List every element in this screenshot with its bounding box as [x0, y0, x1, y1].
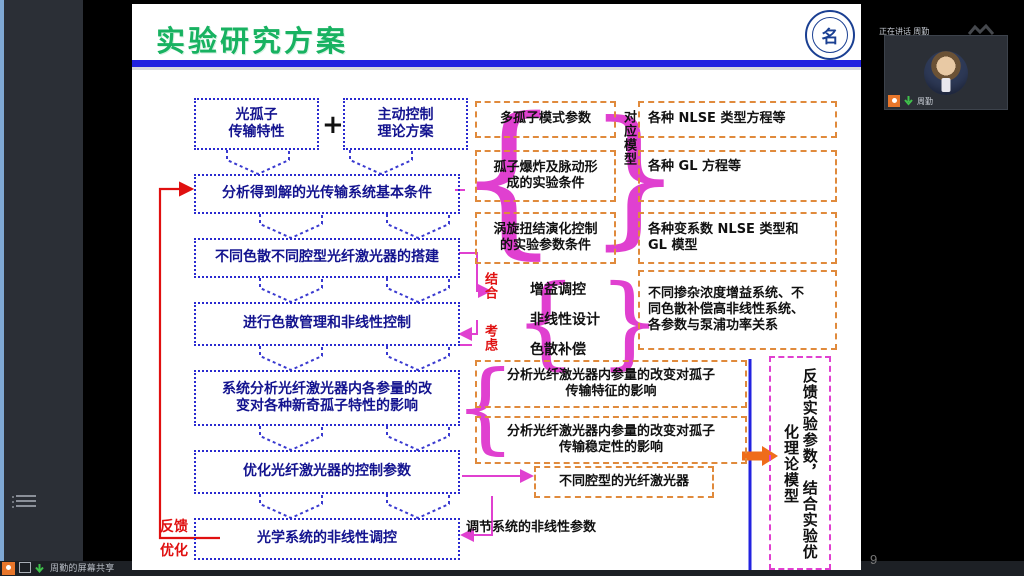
- box-cavity-types[interactable]: 不同腔型的光纤激光器: [534, 466, 714, 498]
- box-nonlinear-regulation[interactable]: 光学系统的非线性调控: [194, 518, 460, 560]
- label-feedback: 反馈: [160, 516, 188, 536]
- participants-list-icon[interactable]: [16, 495, 36, 511]
- video-tile-name: 周勤: [917, 96, 933, 107]
- logo-glyph: 名: [822, 23, 839, 48]
- box-active-control-theory[interactable]: 主动控制 理论方案: [343, 98, 468, 150]
- box-text: 优化光纤激光器的控制参数: [243, 463, 411, 481]
- box-text: 各种变系数 NLSE 类型和 GL 模型: [648, 222, 798, 255]
- label-consider: 考虑: [480, 324, 499, 352]
- box-vortex-knot-conditions[interactable]: 涡旋扭结演化控制 的实验参数条件: [475, 212, 616, 264]
- app-icon[interactable]: [2, 562, 15, 575]
- box-nlse-equations[interactable]: 各种 NLSE 类型方程等: [638, 101, 837, 138]
- box-basic-conditions[interactable]: 分析得到解的光传输系统基本条件: [194, 174, 460, 214]
- box-system-analysis[interactable]: 系统分析光纤激光器内各参量的改 变对各种新奇孤子特性的影响: [194, 370, 460, 426]
- box-text: 不同色散不同腔型光纤激光器的搭建: [215, 249, 439, 267]
- label-tune-nonlinear-params: 调节系统的非线性参数: [466, 516, 596, 535]
- box-text: 各种 GL 方程等: [648, 159, 741, 175]
- user-icon: [888, 95, 900, 107]
- box-text: 光孤子 传输特性: [229, 107, 285, 142]
- box-text: 不同掺杂浓度增益系统、不 同色散补偿高非线性系统、 各参数与泵浦功率关系: [648, 286, 804, 335]
- design-item-dispersion-compensation: 色散补偿: [530, 339, 586, 359]
- label-optimize: 优化: [160, 540, 188, 560]
- box-variable-coeff-models[interactable]: 各种变系数 NLSE 类型和 GL 模型: [638, 212, 837, 264]
- plus-sign: +: [322, 110, 344, 140]
- box-text: 多孤子模式参数: [500, 111, 591, 127]
- design-item-nonlinear-design: 非线性设计: [530, 309, 600, 329]
- box-text: 光学系统的非线性调控: [257, 530, 397, 548]
- box-text: 分析光纤激光器内参量的改变对孤子 传输特征的影响: [507, 368, 715, 401]
- screen-share-icon[interactable]: [19, 562, 31, 573]
- box-text: 进行色散管理和非线性控制: [243, 315, 411, 333]
- box-design-result[interactable]: 不同掺杂浓度增益系统、不 同色散补偿高非线性系统、 各参数与泵浦功率关系: [638, 270, 837, 350]
- page-title: 实验研究方案: [156, 18, 348, 60]
- avatar: [924, 51, 968, 95]
- label-combine: 结合: [480, 272, 499, 300]
- box-text: 涡旋扭结演化控制 的实验参数条件: [493, 222, 597, 255]
- title-underline-bar: [132, 60, 861, 67]
- microphone-icon: [903, 95, 914, 107]
- box-optimize-params[interactable]: 优化光纤激光器的控制参数: [194, 450, 460, 494]
- video-tile[interactable]: 周勤: [884, 35, 1008, 110]
- box-text: 分析得到解的光传输系统基本条件: [222, 185, 432, 203]
- box-text: 分析光纤激光器内参量的改变对孤子 传输稳定性的影响: [507, 424, 715, 457]
- design-item-gain-control: 增益调控: [530, 279, 586, 299]
- box-fiber-laser-setup[interactable]: 不同色散不同腔型光纤激光器的搭建: [194, 238, 460, 278]
- title-underline-shadow: [132, 67, 861, 70]
- panel-text: 反馈实验参数，结合实验优化理论模型: [781, 366, 819, 562]
- box-multi-soliton-params[interactable]: 多孤子模式参数: [475, 101, 616, 138]
- box-text: 主动控制 理论方案: [378, 107, 434, 142]
- box-text: 不同腔型的光纤激光器: [559, 474, 689, 490]
- box-soliton-explosion-conditions[interactable]: 孤子爆炸及脉动形 成的实验条件: [475, 150, 616, 202]
- box-analysis-transmission-stability[interactable]: 分析光纤激光器内参量的改变对孤子 传输稳定性的影响: [475, 416, 747, 464]
- video-tile-label: 周勤: [888, 95, 933, 107]
- box-soliton-transmission[interactable]: 光孤子 传输特性: [194, 98, 319, 150]
- box-gl-equations[interactable]: 各种 GL 方程等: [638, 150, 837, 202]
- mic-icon[interactable]: [34, 563, 45, 574]
- box-analysis-transmission-character[interactable]: 分析光纤激光器内参量的改变对孤子 传输特征的影响: [475, 360, 747, 408]
- box-text: 孤子爆炸及脉动形 成的实验条件: [493, 160, 597, 193]
- university-logo: 名: [805, 10, 855, 60]
- panel-feedback-optimization[interactable]: 反馈实验参数，结合实验优化理论模型: [769, 356, 831, 570]
- page-number: 9: [870, 552, 877, 567]
- presentation-slide: 实验研究方案 名 9: [132, 4, 861, 570]
- meeting-side-panel: [4, 0, 83, 562]
- box-dispersion-management[interactable]: 进行色散管理和非线性控制: [194, 302, 460, 346]
- screen: 正在讲话 周勤 周勤 周勤的屏幕共享 实验研究方案 名 9: [0, 0, 1024, 576]
- taskbar-status-text: 周勤的屏幕共享: [50, 563, 114, 574]
- box-text: 系统分析光纤激光器内各参量的改 变对各种新奇孤子特性的影响: [222, 381, 432, 416]
- label-corresponding-model: 对应模型: [619, 110, 638, 166]
- box-text: 各种 NLSE 类型方程等: [648, 111, 785, 127]
